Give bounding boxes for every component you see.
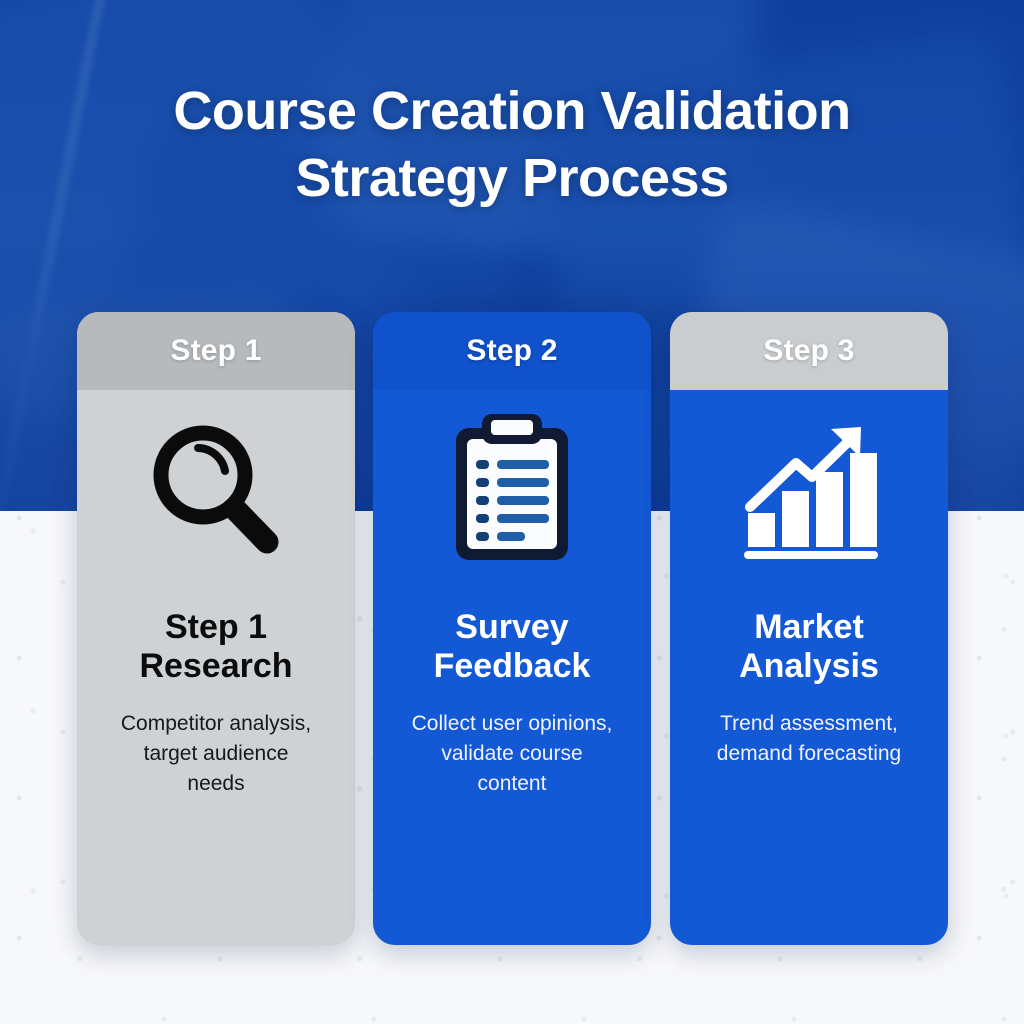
step-card-1-description: Competitor analysis, target audience nee… (103, 709, 329, 798)
step-card-1-title-line-2: Research (139, 647, 292, 686)
step-card-3-title-line-2: Analysis (739, 647, 879, 686)
step-card-3-title: Market Analysis (725, 608, 893, 687)
step-card-2-header: Step 2 (373, 312, 651, 390)
step-card-2-description: Collect user opinions, validate course c… (394, 709, 631, 798)
step-card-3-desc-line-2: demand forecasting (717, 739, 901, 769)
step-card-2-title-line-1: Survey (434, 608, 591, 647)
step-card-2-desc-line-1: Collect user opinions, (412, 709, 613, 739)
step-card-1-icon-area (77, 390, 355, 590)
step-card-2-desc-line-3: content (412, 769, 613, 799)
step-card-1-header: Step 1 (77, 312, 355, 390)
magnifier-icon (141, 415, 291, 565)
step-card-2-title: Survey Feedback (420, 608, 605, 687)
step-card-3-header: Step 3 (670, 312, 948, 390)
step-card-2[interactable]: Step 2 (373, 312, 651, 945)
step-card-3-step-label: Step 3 (763, 334, 854, 368)
step-card-1-title-line-1: Step 1 (139, 608, 292, 647)
step-card-2-icon-area (373, 390, 651, 590)
step-card-3-icon-area (670, 390, 948, 590)
clipboard-icon (442, 410, 582, 570)
page-title-line-1: Course Creation Validation (0, 78, 1024, 145)
step-card-1-title: Step 1 Research (125, 608, 306, 687)
growth-chart-icon (734, 415, 884, 565)
step-card-3-title-line-1: Market (739, 608, 879, 647)
step-card-1-step-label: Step 1 (170, 334, 261, 368)
step-card-3[interactable]: Step 3 Market Analysis Trend assessment,… (670, 312, 948, 945)
step-card-3-description: Trend assessment, demand forecasting (699, 709, 919, 769)
step-card-3-desc-line-1: Trend assessment, (717, 709, 901, 739)
step-card-2-step-label: Step 2 (466, 334, 557, 368)
step-card-2-title-line-2: Feedback (434, 647, 591, 686)
step-card-2-desc-line-2: validate course (412, 739, 613, 769)
page-title: Course Creation Validation Strategy Proc… (0, 78, 1024, 212)
page-title-line-2: Strategy Process (0, 145, 1024, 212)
step-card-1[interactable]: Step 1 Step 1 Research Competitor analys… (77, 312, 355, 945)
step-card-1-desc-line-1: Competitor analysis, (121, 709, 311, 739)
step-card-1-desc-line-3: needs (121, 769, 311, 799)
step-card-1-desc-line-2: target audience (121, 739, 311, 769)
